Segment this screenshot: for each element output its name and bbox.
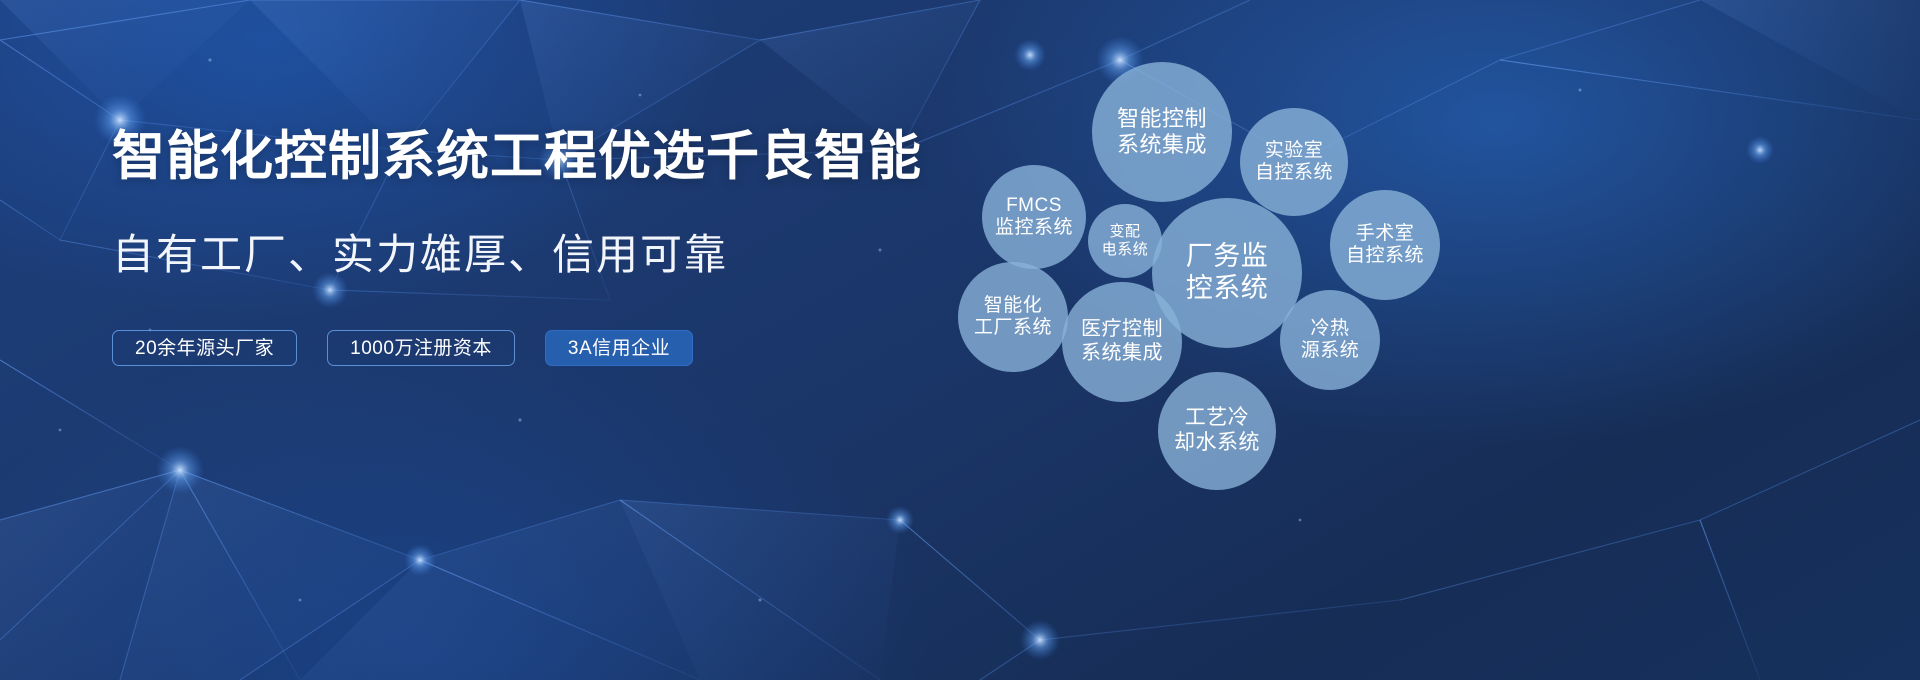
service-bubble-label: 源系统 [1301,340,1360,362]
service-bubble-label: 变配 [1109,223,1140,241]
hero-text-block: 智能化控制系统工程优选千良智能 自有工厂、实力雄厚、信用可靠 20余年源头厂家1… [112,128,932,366]
service-bubble-label: 医疗控制 [1081,318,1163,342]
service-bubble-1[interactable]: 智能控制系统集成 [1092,62,1232,202]
service-bubble-label: 实验室 [1265,140,1324,162]
service-bubble-label: FMCS [1006,195,1062,217]
service-bubble-label: 智能化 [984,295,1043,317]
service-bubble-3[interactable]: FMCS监控系统 [982,165,1086,269]
service-bubble-label: 系统集成 [1117,132,1207,158]
page-title: 智能化控制系统工程优选千良智能 [112,128,932,186]
service-bubble-label: 手术室 [1356,223,1415,245]
service-bubble-label: 工厂系统 [974,317,1052,339]
service-bubble-2[interactable]: 实验室自控系统 [1240,108,1348,216]
service-bubble-label: 控系统 [1186,273,1269,305]
service-bubble-4[interactable]: 变配电系统 [1088,204,1162,278]
hero-banner: 智能化控制系统工程优选千良智能 自有工厂、实力雄厚、信用可靠 20余年源头厂家1… [0,0,1920,680]
service-bubble-cluster: 智能控制系统集成实验室自控系统FMCS监控系统变配电系统手术室自控系统厂务监控系… [940,0,1920,680]
service-bubble-10[interactable]: 工艺冷却水系统 [1158,372,1276,490]
service-bubble-label: 工艺冷 [1185,406,1250,431]
badge-3[interactable]: 3A信用企业 [545,330,693,366]
service-bubble-label: 监控系统 [995,217,1073,239]
service-bubble-9[interactable]: 冷热源系统 [1280,290,1380,390]
service-bubble-label: 系统集成 [1081,342,1163,366]
service-bubble-label: 自控系统 [1255,162,1333,184]
badge-2[interactable]: 1000万注册资本 [327,330,515,366]
service-bubble-label: 厂务监 [1186,241,1269,273]
service-bubble-label: 电系统 [1102,241,1149,259]
service-bubble-label: 冷热 [1310,318,1349,340]
service-bubble-label: 自控系统 [1346,245,1424,267]
service-bubble-8[interactable]: 医疗控制系统集成 [1062,282,1182,402]
service-bubble-7[interactable]: 智能化工厂系统 [958,262,1068,372]
service-bubble-label: 却水系统 [1174,431,1260,456]
service-bubble-label: 智能控制 [1117,106,1207,132]
service-bubble-5[interactable]: 手术室自控系统 [1330,190,1440,300]
badge-1[interactable]: 20余年源头厂家 [112,330,297,366]
page-subtitle: 自有工厂、实力雄厚、信用可靠 [112,232,932,278]
badge-list: 20余年源头厂家1000万注册资本3A信用企业 [112,330,932,366]
